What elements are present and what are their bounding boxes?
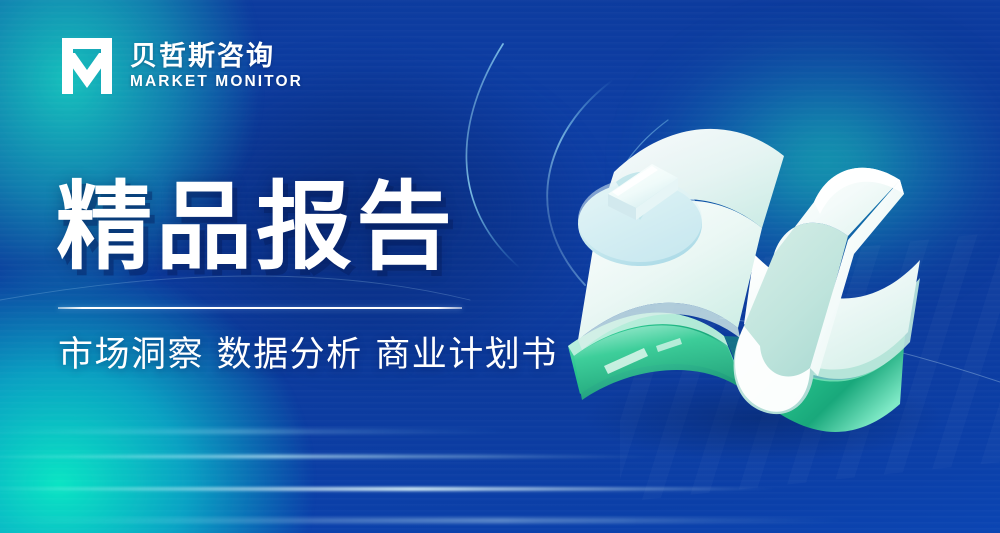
market-monitor-m-mark-icon [58, 36, 116, 96]
open-book-illustration [548, 150, 958, 460]
brand-logo-text: 贝哲斯咨询 MARKET MONITOR [130, 43, 303, 90]
brand-name-cn: 贝哲斯咨询 [130, 43, 303, 70]
title-divider [58, 307, 462, 309]
page-title: 精品报告 [56, 178, 456, 278]
subtitle: 市场洞察 数据分析 商业计划书 [58, 334, 558, 378]
brand-logo[interactable]: 贝哲斯咨询 MARKET MONITOR [58, 36, 303, 96]
report-promo-banner: 贝哲斯咨询 MARKET MONITOR 精品报告 市场洞察 数据分析 商业计划… [0, 0, 1000, 533]
brand-name-en: MARKET MONITOR [130, 74, 303, 90]
